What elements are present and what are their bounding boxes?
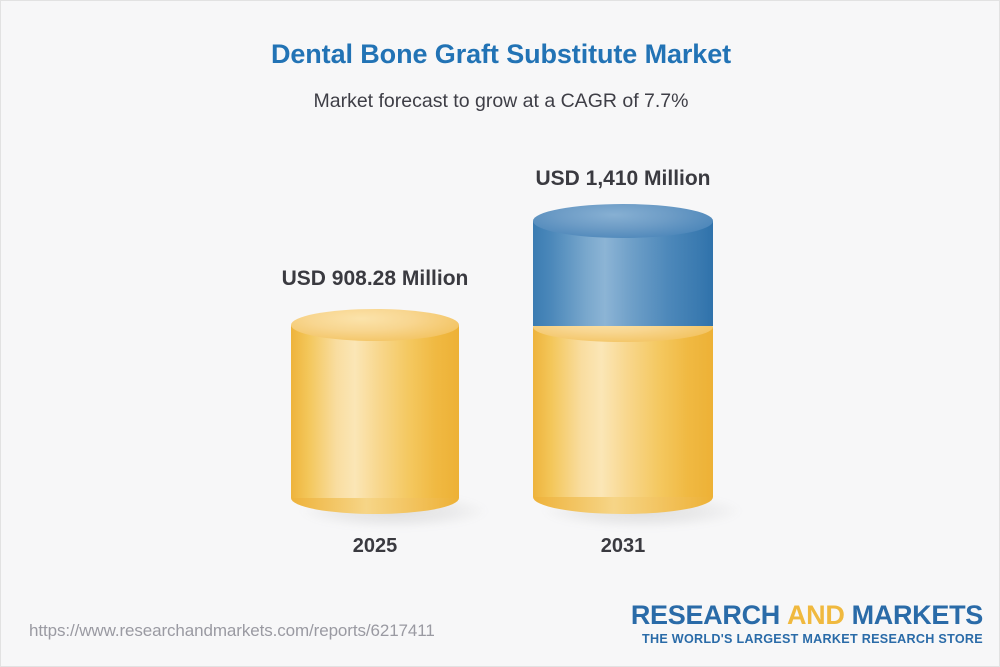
logo-wordmark: RESEARCHANDMARKETS xyxy=(631,601,983,629)
bar-group-2031: USD 1,410 Million 2031 xyxy=(1,1,1000,601)
logo-word-and: AND xyxy=(787,600,845,630)
logo-tagline: THE WORLD'S LARGEST MARKET RESEARCH STOR… xyxy=(631,632,983,646)
bar-segment-amber-2031 xyxy=(533,312,713,514)
research-and-markets-logo[interactable]: RESEARCHANDMARKETS THE WORLD'S LARGEST M… xyxy=(631,601,983,646)
bar-category-label-2031: 2031 xyxy=(523,535,723,558)
bar-body-amber-2031 xyxy=(533,327,713,497)
logo-word-research: RESEARCH xyxy=(631,600,780,630)
report-url[interactable]: https://www.researchandmarkets.com/repor… xyxy=(29,621,435,641)
bar-cylinder-2031[interactable] xyxy=(533,204,713,514)
bar-segment-blue-2031 xyxy=(533,204,713,326)
bar-top-cap-2031 xyxy=(533,204,713,238)
logo-word-markets: MARKETS xyxy=(852,600,983,630)
chart-canvas: Dental Bone Graft Substitute Market Mark… xyxy=(0,0,1000,667)
bar-value-label-2031: USD 1,410 Million xyxy=(453,167,793,191)
plot-area: USD 908.28 Million 2025 USD 1,410 Millio… xyxy=(1,1,1000,601)
